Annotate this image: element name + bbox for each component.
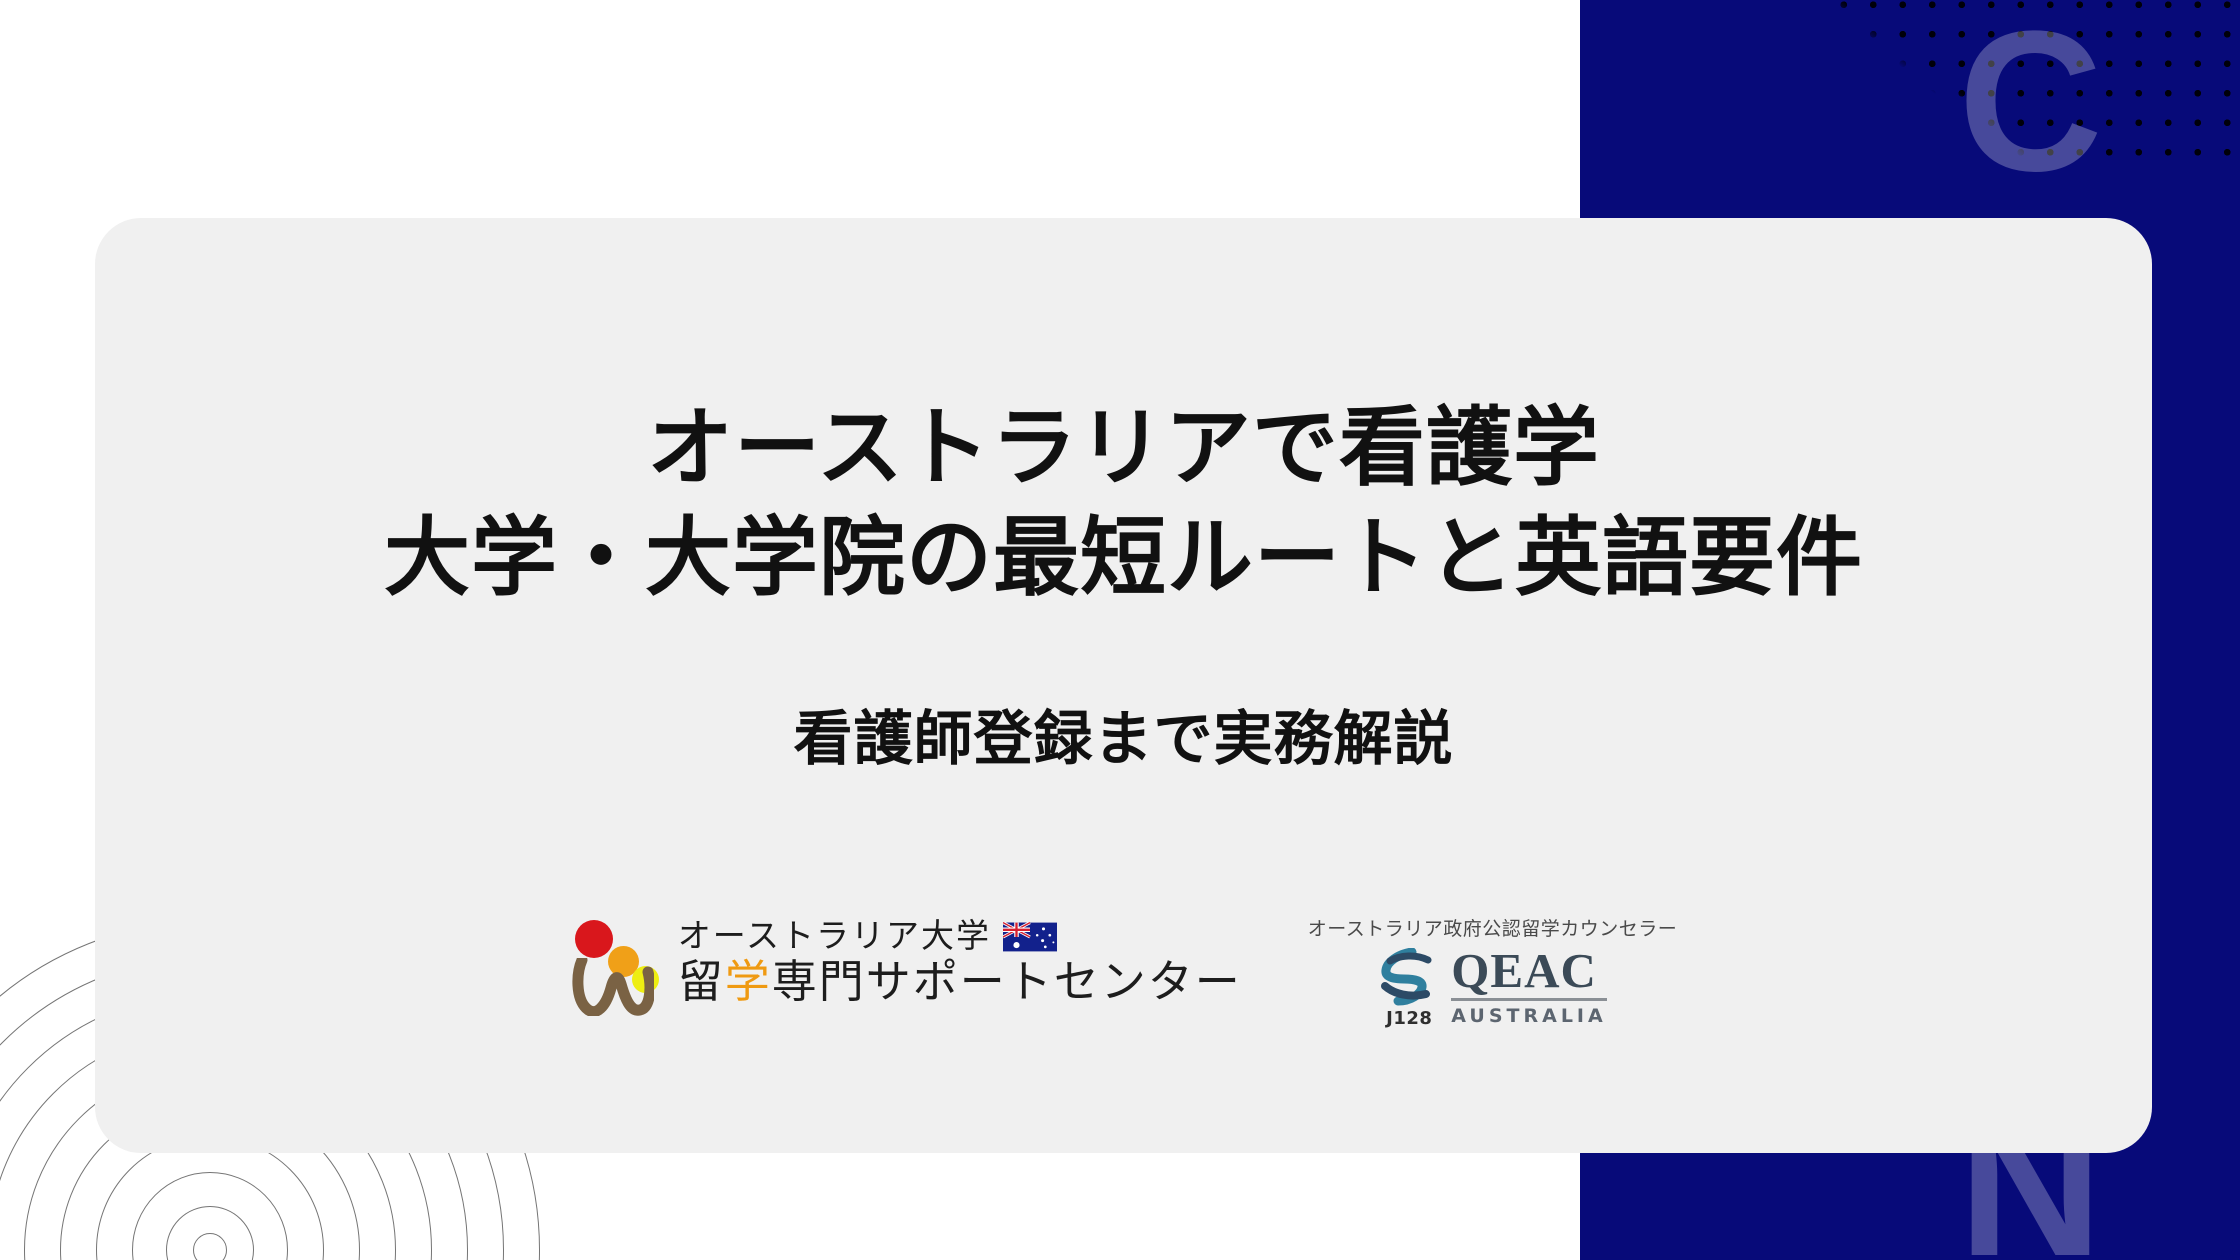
page-title-line-1: オーストラリアで看護学 xyxy=(384,393,1863,503)
brand-line-2-accent: 学 xyxy=(725,957,772,1007)
brand-line-1: オーストラリア大学 xyxy=(678,921,1242,954)
brand-text: オーストラリア大学 xyxy=(678,921,1242,1008)
content-card: オーストラリアで看護学 大学・大学院の最短ルートと英語要件 看護師登録まで実務解… xyxy=(95,218,2152,1153)
brand-w-stroke-icon xyxy=(572,958,654,1016)
slide-canvas: COLUMN オーストラリアで看護学 大学・大学院の最短ルートと英語要件 看護師… xyxy=(0,0,2240,1260)
logo-strip: オーストラリア大学 xyxy=(95,908,2152,1029)
brand-line-2: 留学専門サポートセンター xyxy=(678,958,1242,1008)
qeac-country: AUSTRALIA xyxy=(1451,1005,1606,1027)
qeac-wordmark-block: QEAC AUSTRALIA xyxy=(1451,948,1606,1027)
qeac-caption: オーストラリア政府公認留学カウンセラー xyxy=(1308,914,1678,941)
brand-dot-red-icon xyxy=(575,920,613,958)
qeac-globe-icon xyxy=(1378,948,1440,1006)
page-subtitle: 看護師登録まで実務解説 xyxy=(793,691,1453,776)
brand-mark-icon xyxy=(570,908,658,1020)
brand-line-2-prefix: 留 xyxy=(678,957,725,1007)
brand-line-2-suffix: 専門サポートセンター xyxy=(772,957,1242,1007)
qeac-wordmark: QEAC xyxy=(1451,948,1606,995)
qeac-body: J128 QEAC AUSTRALIA xyxy=(1378,948,1606,1029)
qeac-globe-block: J128 xyxy=(1378,948,1440,1029)
brand-line-1-label: オーストラリア大学 xyxy=(678,921,991,954)
page-title: オーストラリアで看護学 大学・大学院の最短ルートと英語要件 xyxy=(384,393,1863,613)
brand-logo: オーストラリア大学 xyxy=(570,908,1242,1020)
qeac-logo: オーストラリア政府公認留学カウンセラー J128 xyxy=(1308,908,1678,1029)
qeac-code: J128 xyxy=(1386,1008,1432,1029)
card-inner: オーストラリアで看護学 大学・大学院の最短ルートと英語要件 看護師登録まで実務解… xyxy=(95,218,2152,1153)
page-title-line-2: 大学・大学院の最短ルートと英語要件 xyxy=(384,503,1863,613)
australia-flag-icon xyxy=(1003,922,1057,952)
